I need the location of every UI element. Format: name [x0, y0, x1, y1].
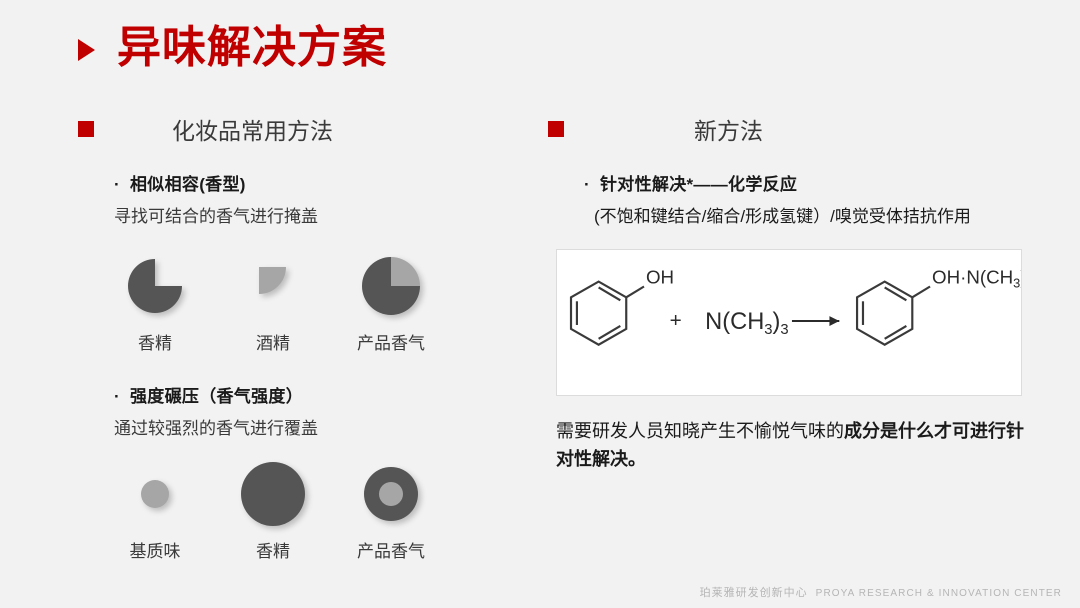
donut-icon	[362, 465, 420, 523]
footer-en-text: PROYA RESEARCH & INNOVATION CENTER	[816, 588, 1062, 599]
reaction-scheme-svg: OH + N(CH3)3 OH·N(CH3) 3	[557, 250, 1021, 395]
footer-cn-text: 珀莱雅研发创新中心	[700, 584, 808, 600]
large-circle-art	[214, 457, 332, 531]
reagent-formula: N(CH3)3	[705, 309, 789, 338]
pie-two-tone-icon	[360, 255, 422, 317]
title-triangle-icon	[78, 39, 95, 61]
left-bullet-1-sub: 寻找可结合的香气进行掩盖	[114, 202, 538, 227]
left-column: 化妆品常用方法 · 相似相容(香型) 寻找可结合的香气进行掩盖 香精	[78, 112, 538, 562]
right-section-title: 新方法	[694, 112, 763, 146]
red-square-icon	[548, 121, 564, 137]
icon-label: 香精	[138, 329, 172, 354]
red-square-icon	[78, 121, 94, 137]
left-bullet-2-heading: 强度碾压（香气强度）	[130, 382, 303, 407]
left-bullet-2-line: · 强度碾压（香气强度）	[114, 382, 538, 407]
icon-label: 酒精	[256, 329, 290, 354]
left-icon-row-1: 香精 酒精 产品香气	[78, 249, 538, 354]
note-regular-text: 需要研发人员知晓产生不愉悦气味的	[556, 421, 844, 441]
right-bullet-1-sub: (不饱和键结合/缩合/形成氢键）/嗅觉受体拮抗作用	[594, 202, 1038, 227]
left-icon-row-2: 基质味 香精 产品香气	[78, 457, 538, 562]
icon-cell-xiangjing-circle: 香精	[214, 457, 332, 562]
left-bullet-2-sub: 通过较强烈的香气进行覆盖	[114, 414, 538, 439]
benzene-ring-reactant	[571, 282, 626, 345]
reactant-oh-label: OH	[646, 267, 674, 288]
icon-cell-jiujing-wedge: 酒精	[214, 249, 332, 354]
page-title: 异味解决方案	[78, 26, 387, 70]
phenol-oh-bond	[626, 286, 644, 297]
icon-cell-chanpinxiangqi-donut: 产品香气	[332, 457, 450, 562]
bullet-dot-icon: ·	[584, 175, 600, 195]
icon-cell-chanpinxiangqi-pie: 产品香气	[332, 249, 450, 354]
right-bullet-1-line: · 针对性解决*——化学反应	[584, 170, 1038, 195]
icon-label: 产品香气	[357, 329, 425, 354]
small-circle-icon	[140, 479, 170, 509]
left-bullet-1-line: · 相似相容(香型)	[114, 170, 538, 195]
left-section-title: 化妆品常用方法	[172, 112, 333, 146]
right-column: 新方法 · 针对性解决*——化学反应 (不饱和键结合/缩合/形成氢键）/嗅觉受体…	[548, 112, 1038, 474]
left-section-header: 化妆品常用方法	[78, 112, 538, 146]
icon-cell-jizhiwei-circle: 基质味	[96, 457, 214, 562]
benzene-ring-product	[857, 282, 912, 345]
bullet-dot-icon: ·	[114, 387, 130, 407]
right-bullet-1-heading: 针对性解决*——化学反应	[600, 170, 797, 195]
reaction-diagram-box: OH + N(CH3)3 OH·N(CH3) 3	[556, 249, 1022, 396]
footer: 珀莱雅研发创新中心 PROYA RESEARCH & INNOVATION CE…	[700, 584, 1062, 600]
large-circle-icon	[239, 460, 307, 528]
small-circle-art	[96, 457, 214, 531]
title-text: 异味解决方案	[117, 26, 387, 70]
right-note: 需要研发人员知晓产生不愉悦气味的成分是什么才可进行针对性解决。	[556, 418, 1026, 474]
product-oh-bond	[912, 286, 930, 297]
quarter-wedge-art	[214, 249, 332, 323]
icon-label: 基质味	[130, 537, 181, 562]
left-bullet-2: · 强度碾压（香气强度） 通过较强烈的香气进行覆盖	[78, 382, 538, 439]
arrow-head	[829, 316, 839, 326]
slide-root: 异味解决方案 化妆品常用方法 · 相似相容(香型) 寻找可结合的香气进行掩盖	[0, 0, 1080, 608]
pie-missing-quarter-art	[96, 249, 214, 323]
plus-sign: +	[670, 309, 682, 332]
left-bullet-1: · 相似相容(香型) 寻找可结合的香气进行掩盖	[78, 170, 538, 227]
right-bullet-1: · 针对性解决*——化学反应 (不饱和键结合/缩合/形成氢键）/嗅觉受体拮抗作用	[548, 170, 1038, 227]
pie-two-tone-art	[332, 249, 450, 323]
donut-art	[332, 457, 450, 531]
icon-label: 香精	[256, 537, 290, 562]
icon-label: 产品香气	[357, 537, 425, 562]
product-formula: OH·N(CH3) 3	[932, 267, 1021, 291]
right-section-header: 新方法	[548, 112, 1038, 146]
pie-missing-quarter-icon	[126, 257, 184, 315]
icon-cell-xiangjing-pie: 香精	[96, 249, 214, 354]
left-bullet-1-heading: 相似相容(香型)	[130, 170, 246, 195]
bullet-dot-icon: ·	[114, 175, 130, 195]
quarter-wedge-icon	[244, 257, 302, 315]
